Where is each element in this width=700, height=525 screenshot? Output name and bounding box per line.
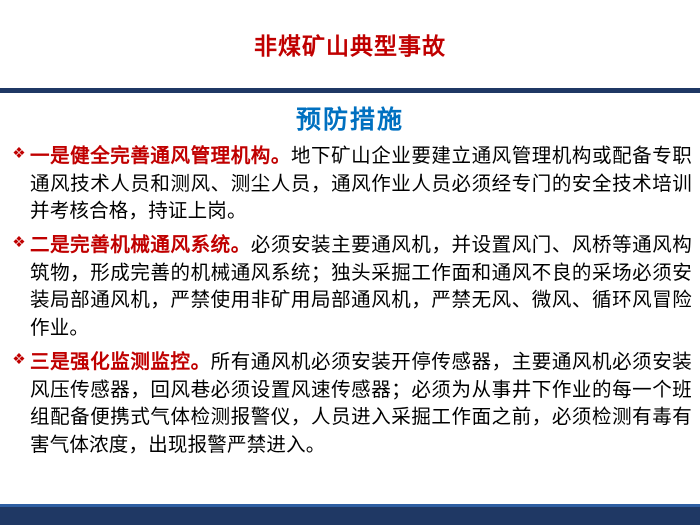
list-item-lead: 二是完善机械通风系统。 [30,235,251,256]
page-title: 非煤矿山典型事故 [254,27,446,61]
list-item: ❖ 二是完善机械通风系统。必须安装主要通风机，并设置风门、风桥等通风构筑物，形成… [8,232,692,343]
diamond-bullet-icon: ❖ [8,349,30,368]
list-item-text: 一是健全完善通风管理机构。地下矿山企业要建立通风管理机构或配备专职通风技术人员和… [30,143,692,226]
slide-subtitle: 预防措施 [296,106,404,134]
list-item: ❖ 一是健全完善通风管理机构。地下矿山企业要建立通风管理机构或配备专职通风技术人… [8,143,692,226]
subtitle-row: 预防措施 [0,100,700,136]
list-item-lead: 一是健全完善通风管理机构。 [30,146,291,167]
diamond-bullet-icon: ❖ [8,232,30,251]
list-item: ❖ 三是强化监测监控。所有通风机必须安装开停传感器，主要通风机必须安装风压传感器… [8,349,692,460]
list-item-lead: 三是强化监测监控。 [30,352,211,373]
list-item-text: 二是完善机械通风系统。必须安装主要通风机，并设置风门、风桥等通风构筑物，形成完善… [30,232,692,343]
diamond-bullet-icon: ❖ [8,143,30,162]
slide: 非煤矿山典型事故 预防措施 ❖ 一是健全完善通风管理机构。地下矿山企业要建立通风… [0,0,700,525]
footer-bar [0,507,700,525]
title-divider [0,88,700,93]
bullet-list: ❖ 一是健全完善通风管理机构。地下矿山企业要建立通风管理机构或配备专职通风技术人… [8,143,692,466]
title-bar: 非煤矿山典型事故 [0,0,700,88]
list-item-text: 三是强化监测监控。所有通风机必须安装开停传感器，主要通风机必须安装风压传感器，回… [30,349,692,460]
